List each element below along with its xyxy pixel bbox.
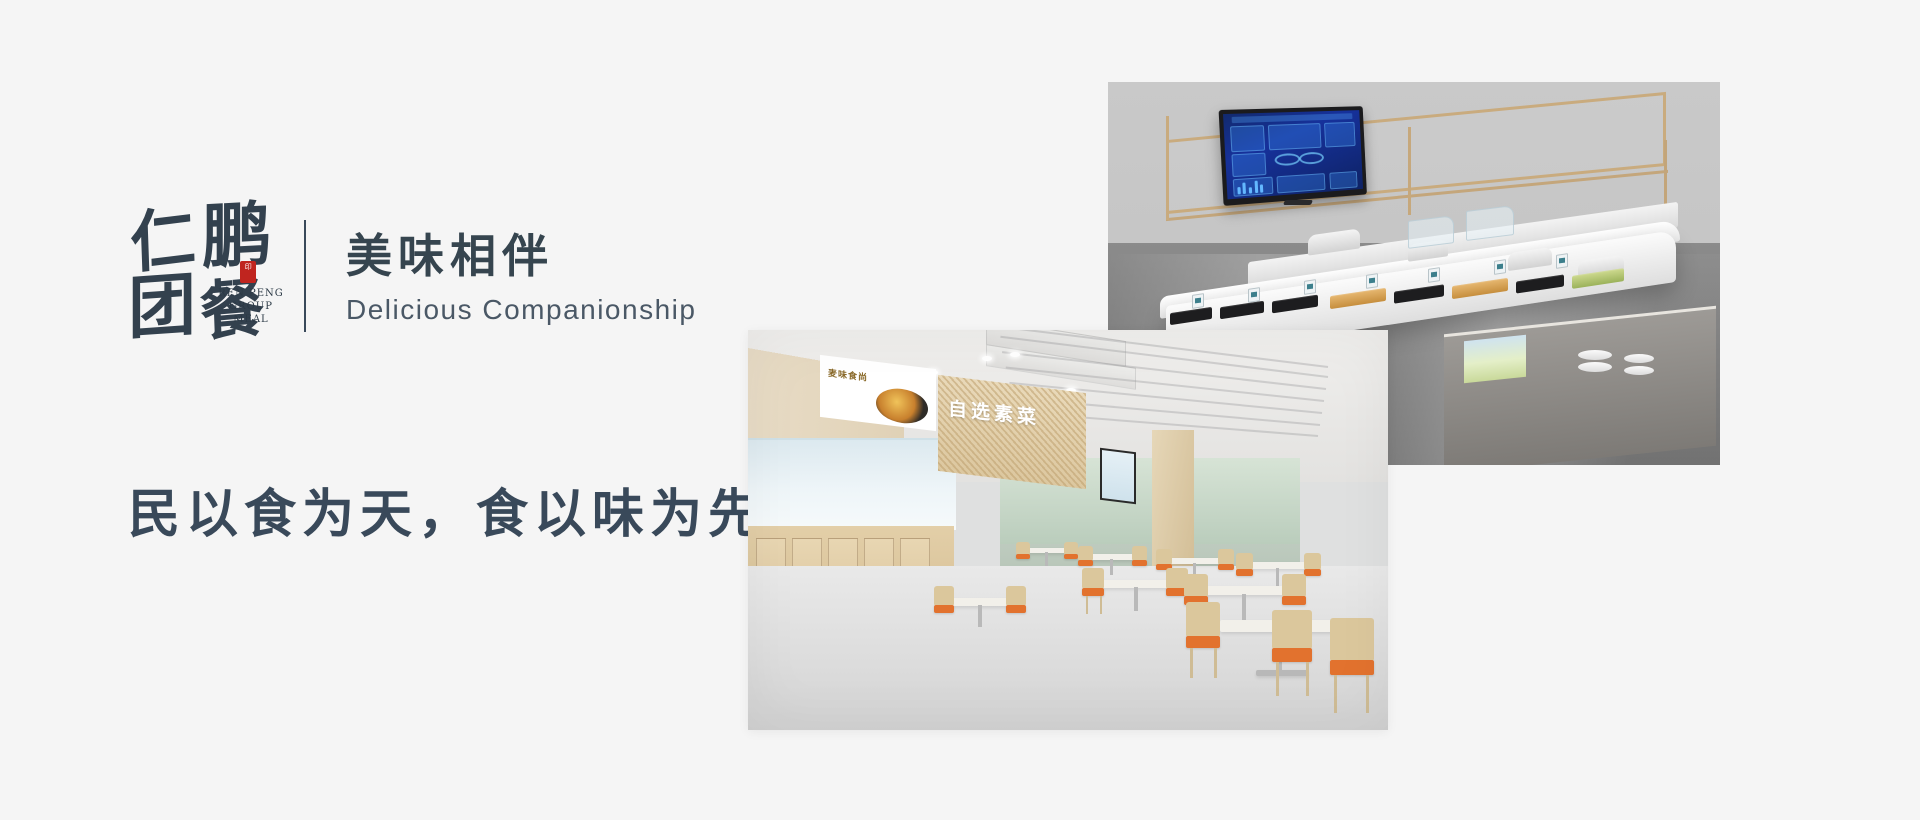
stacked-plates-2 [1578,362,1612,372]
logo-english-line-3: MEAL [214,313,288,326]
digital-signage-screen [1219,106,1367,206]
logo-english-line-2: GROUP [214,300,288,313]
vertical-divider [304,220,306,332]
price-tag-2 [1248,287,1260,303]
price-tag-3 [1304,279,1316,295]
price-tag-1 [1192,293,1204,309]
photo-canteen-interior: 麦味食尚 自选素菜 [748,330,1388,730]
stacked-plates-3 [1624,354,1654,363]
sneeze-guard-1 [1408,215,1454,249]
red-seal-icon: 印 [240,261,256,283]
dish-photo [876,386,928,426]
logo-english-name: REN PENG GROUP MEAL [214,287,288,326]
brand-banner: 仁 鹏 团 餐 印 REN PENG GROUP MEAL 美味相伴 Delic… [0,0,1920,820]
counter-glass-partition [748,438,956,530]
sign-brand-text: 麦味食尚 [828,366,868,384]
side-menu-screen [1100,448,1136,504]
price-tag-6 [1494,259,1506,275]
ceiling-downlight-1 [982,356,992,361]
price-tag-4 [1366,273,1378,289]
dish-shelf-unit [1444,306,1716,465]
dining-chair [1186,636,1220,648]
price-tag-7 [1556,253,1568,269]
logo-char-peng: 鹏 [202,199,270,273]
dining-chair [1330,660,1374,675]
price-tag-5 [1428,267,1440,283]
ceiling-downlight-2 [1010,352,1020,357]
brand-subtitle: Delicious Companionship [346,294,696,326]
brand-text-group: 美味相伴 Delicious Companionship [346,226,696,327]
logo-char-tuan: 团 [128,271,194,344]
stacked-plates-1 [1578,350,1612,360]
sneeze-guard-2 [1466,205,1514,241]
dashboard-display [1223,110,1363,199]
tagline: 民以食为天，食以味为先 [128,472,766,547]
pergola-post-mid [1408,127,1411,215]
stacked-plates-4 [1624,366,1654,375]
brand-title: 美味相伴 [346,230,696,283]
pergola-post-left [1166,116,1169,220]
logo-english-line-1: REN PENG [214,287,288,300]
screen-mount [1283,200,1313,205]
company-logo: 仁 鹏 团 餐 印 REN PENG GROUP MEAL [128,201,288,351]
brand-block: 仁 鹏 团 餐 印 REN PENG GROUP MEAL 美味相伴 Delic… [128,196,748,356]
dining-chair [1272,648,1312,662]
shelf-poster [1464,335,1526,384]
